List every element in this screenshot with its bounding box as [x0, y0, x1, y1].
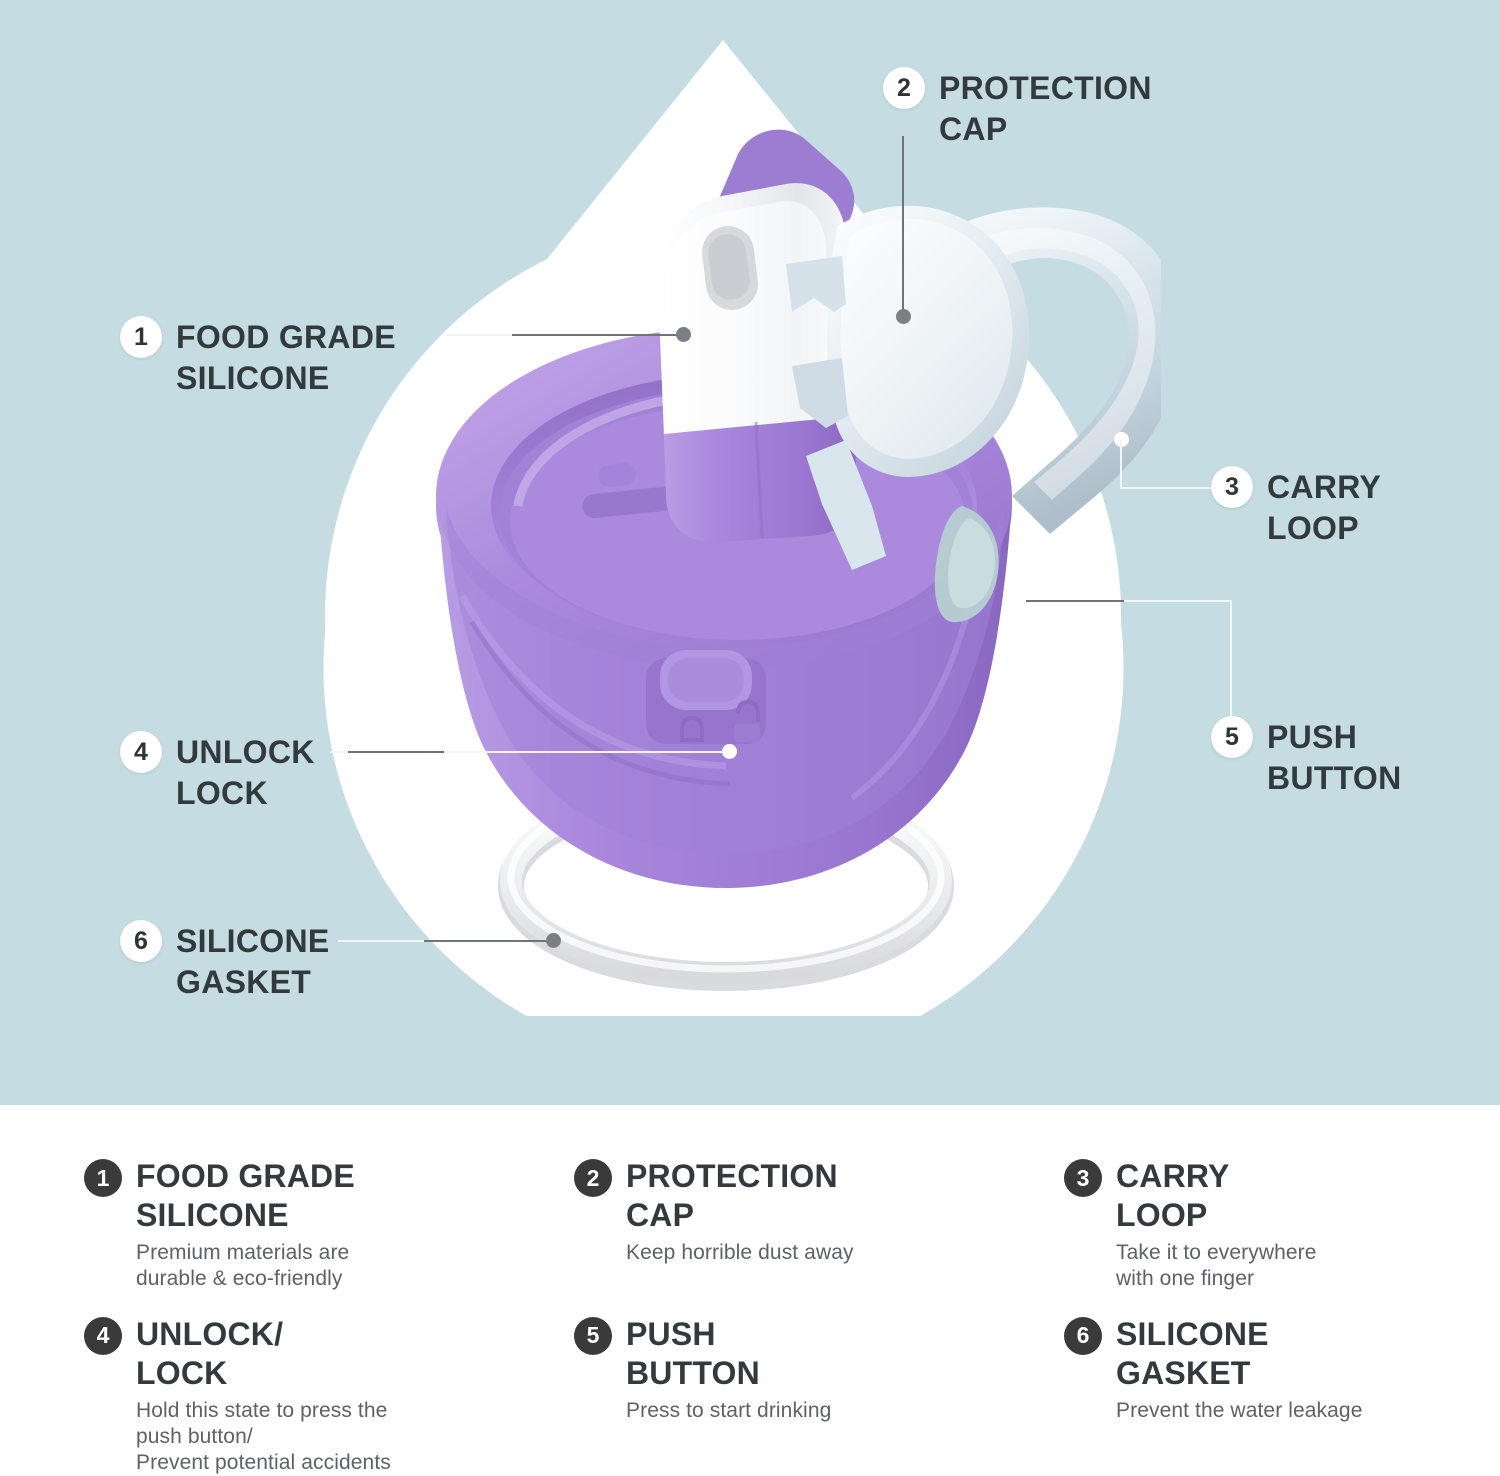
leader-2-line	[902, 136, 904, 316]
hero-panel: 1 FOOD GRADE SILICONE 2 PROTECTION CAP 3…	[0, 0, 1500, 1105]
callout-2-badge: 2	[883, 67, 925, 109]
legend-6-description: Prevent the water leakage	[1116, 1398, 1362, 1424]
legend-4-body: UNLOCK/ LOCK Hold this state to press th…	[136, 1315, 391, 1476]
callout-3-carry-loop: 3 CARRY LOOP	[1211, 466, 1381, 549]
callout-4-label: UNLOCK LOCK	[176, 732, 315, 814]
legend-3-title: CARRY LOOP	[1116, 1157, 1317, 1235]
leader-1-dot	[676, 327, 691, 342]
leader-5-line-h1	[1026, 600, 1126, 602]
callout-1-food-grade-silicone: 1 FOOD GRADE SILICONE	[120, 316, 396, 399]
legend-item-4: 4 UNLOCK/ LOCK Hold this state to press …	[84, 1315, 574, 1476]
legend-2-badge: 2	[574, 1159, 612, 1197]
callout-3-badge: 3	[1211, 466, 1253, 508]
leader-4-dot	[722, 744, 737, 759]
callout-5-label: PUSH BUTTON	[1267, 717, 1402, 799]
legend-5-body: PUSH BUTTON Press to start drinking	[626, 1315, 831, 1424]
leader-1-line	[512, 334, 682, 336]
leader-1-line-outer	[446, 334, 518, 336]
callout-2-label: PROTECTION CAP	[939, 68, 1152, 150]
leader-4-line-inner	[444, 751, 730, 753]
legend-5-badge: 5	[574, 1317, 612, 1355]
legend-item-1: 1 FOOD GRADE SILICONE Premium materials …	[84, 1157, 574, 1293]
legend-item-3: 3 CARRY LOOP Take it to everywhere with …	[1064, 1157, 1464, 1293]
callout-5-push-button: 5 PUSH BUTTON	[1211, 716, 1402, 799]
legend-3-badge: 3	[1064, 1159, 1102, 1197]
legend-1-title: FOOD GRADE SILICONE	[136, 1157, 355, 1235]
leader-6-line-outer	[338, 940, 432, 942]
legend-6-badge: 6	[1064, 1317, 1102, 1355]
leader-4-line	[348, 751, 446, 753]
callout-1-badge: 1	[120, 316, 162, 358]
legend-4-description: Hold this state to press the push button…	[136, 1398, 391, 1476]
legend-3-description: Take it to everywhere with one finger	[1116, 1240, 1317, 1293]
leader-5-line-h2	[1124, 600, 1232, 602]
legend-1-badge: 1	[84, 1159, 122, 1197]
callout-6-silicone-gasket: 6 SILICONE GASKET	[120, 920, 330, 1003]
legend-2-title: PROTECTION CAP	[626, 1157, 854, 1235]
legend-5-description: Press to start drinking	[626, 1398, 831, 1424]
callout-5-badge: 5	[1211, 716, 1253, 758]
legend-3-body: CARRY LOOP Take it to everywhere with on…	[1116, 1157, 1317, 1293]
legend-4-title: UNLOCK/ LOCK	[136, 1315, 391, 1393]
legend-2-description: Keep horrible dust away	[626, 1240, 854, 1266]
legend-item-6: 6 SILICONE GASKET Prevent the water leak…	[1064, 1315, 1464, 1476]
legend-panel: 1 FOOD GRADE SILICONE Premium materials …	[0, 1105, 1500, 1471]
legend-item-5: 5 PUSH BUTTON Press to start drinking	[574, 1315, 1064, 1476]
legend-1-description: Premium materials are durable & eco-frie…	[136, 1240, 355, 1293]
infographic-page: 1 FOOD GRADE SILICONE 2 PROTECTION CAP 3…	[0, 0, 1500, 1471]
legend-2-body: PROTECTION CAP Keep horrible dust away	[626, 1157, 854, 1266]
legend-6-body: SILICONE GASKET Prevent the water leakag…	[1116, 1315, 1362, 1424]
callout-4-badge: 4	[120, 731, 162, 773]
leader-3-line-h	[1120, 487, 1216, 489]
callout-2-protection-cap: 2 PROTECTION CAP	[883, 67, 1152, 150]
callout-4-unlock-lock: 4 UNLOCK LOCK	[120, 731, 315, 814]
leader-5-line-v	[1230, 600, 1232, 718]
callout-6-label: SILICONE GASKET	[176, 921, 330, 1003]
legend-4-badge: 4	[84, 1317, 122, 1355]
leader-3-line-v	[1120, 440, 1122, 488]
leader-6-line	[424, 940, 550, 942]
legend-item-2: 2 PROTECTION CAP Keep horrible dust away	[574, 1157, 1064, 1293]
legend-5-title: PUSH BUTTON	[626, 1315, 831, 1393]
leader-2-dot	[896, 309, 911, 324]
callout-1-label: FOOD GRADE SILICONE	[176, 317, 396, 399]
leader-6-dot	[546, 933, 561, 948]
callout-6-badge: 6	[120, 920, 162, 962]
legend-1-body: FOOD GRADE SILICONE Premium materials ar…	[136, 1157, 355, 1293]
callout-3-label: CARRY LOOP	[1267, 467, 1381, 549]
legend-6-title: SILICONE GASKET	[1116, 1315, 1362, 1393]
